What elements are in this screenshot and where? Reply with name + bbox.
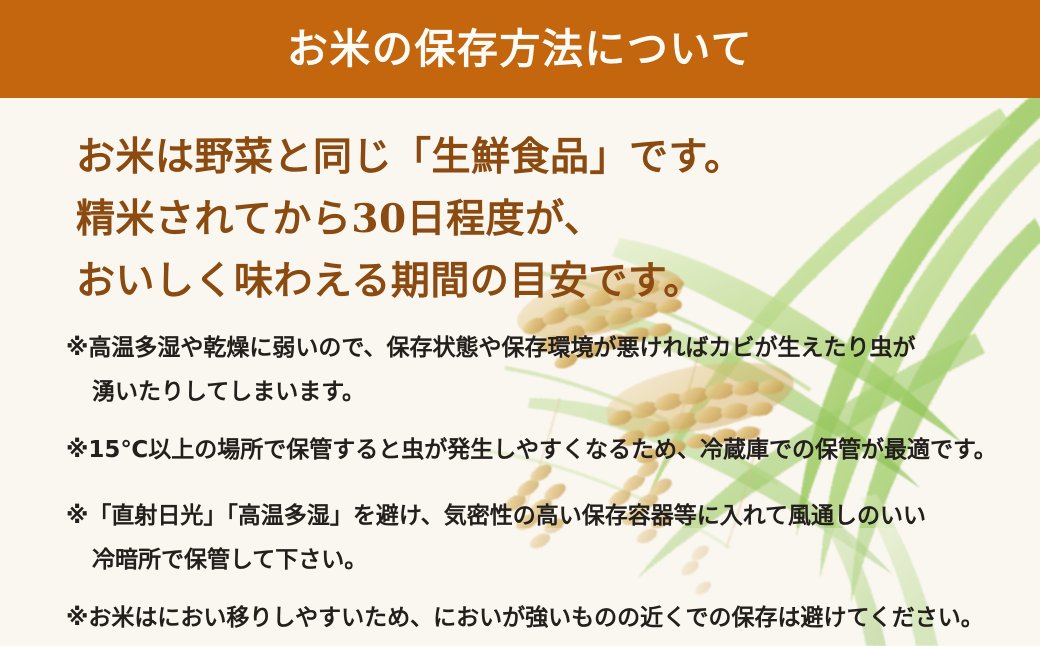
note-line-1: ※「直射日光」「高温多湿」を避け、気密性の高い保存容器等に入れて風通しのいい bbox=[66, 503, 926, 529]
note-line-1: ※15℃以上の場所で保管すると虫が発生しやすくなるため、冷蔵庫での保管が最適です… bbox=[66, 437, 997, 463]
note-line-2: 冷暗所で保管して下さい。 bbox=[66, 538, 996, 582]
headline-line-1: お米は野菜と同じ「生鮮食品」です。 bbox=[76, 126, 736, 188]
note-item: ※15℃以上の場所で保管すると虫が発生しやすくなるため、冷蔵庫での保管が最適です… bbox=[66, 428, 996, 472]
headline-line-2: 精米されてから30日程度が、 bbox=[76, 188, 736, 250]
headline-block: お米は野菜と同じ「生鮮食品」です。 精米されてから30日程度が、 おいしく味わえ… bbox=[76, 126, 736, 312]
header-band: お米の保存方法について bbox=[0, 0, 1040, 98]
note-line-1: ※お米はにおい移りしやすいため、においが強いものの近くでの保存は避けてください。 bbox=[66, 605, 984, 631]
notes-list: ※高温多湿や乾燥に弱いので、保存状態や保存環境が悪ければカビが生えたり虫が 湧い… bbox=[66, 326, 996, 646]
note-line-2: 湧いたりしてしまいます。 bbox=[66, 370, 996, 414]
rice-storage-infographic: お米の保存方法について bbox=[0, 0, 1040, 646]
content-area: お米は野菜と同じ「生鮮食品」です。 精米されてから30日程度が、 おいしく味わえ… bbox=[0, 98, 1040, 646]
page-title: お米の保存方法について bbox=[287, 29, 753, 70]
headline-line-3: おいしく味わえる期間の目安です。 bbox=[76, 250, 736, 312]
note-item: ※お米はにおい移りしやすいため、においが強いものの近くでの保存は避けてください。 bbox=[66, 596, 996, 640]
note-item: ※高温多湿や乾燥に弱いので、保存状態や保存環境が悪ければカビが生えたり虫が 湧い… bbox=[66, 326, 996, 414]
note-line-1: ※高温多湿や乾燥に弱いので、保存状態や保存環境が悪ければカビが生えたり虫が bbox=[66, 335, 915, 361]
note-item: ※「直射日光」「高温多湿」を避け、気密性の高い保存容器等に入れて風通しのいい 冷… bbox=[66, 494, 996, 582]
